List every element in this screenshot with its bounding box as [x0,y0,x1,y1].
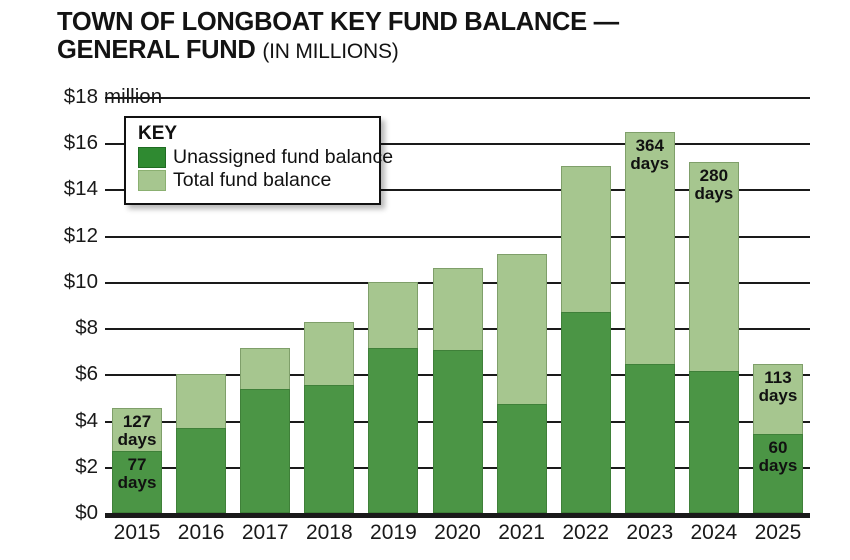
bar-segment-unassigned-2018[interactable] [304,385,354,513]
bar-2021[interactable] [497,254,547,513]
bar-segment-unassigned-2015[interactable] [112,451,162,513]
gridline [105,97,810,99]
bar-2023[interactable] [625,132,675,513]
y-axis-tick-label: $0 [36,501,98,525]
legend-swatch-unassigned-icon [138,147,166,168]
bar-segment-unassigned-2019[interactable] [368,348,418,513]
bar-segment-unassigned-2024[interactable] [689,371,739,513]
legend-item-unassigned: Unassigned fund balance [138,147,379,168]
y-axis-tick-label: $4 [36,409,98,433]
y-axis-tick-label: $8 [36,316,98,340]
gridline [105,513,810,518]
bar-2016[interactable] [176,374,226,513]
y-axis-tick-label: $2 [36,455,98,479]
bar-2024[interactable] [689,162,739,513]
bar-2017[interactable] [240,348,290,513]
bar-segment-unassigned-2016[interactable] [176,428,226,514]
bar-2019[interactable] [368,282,418,513]
legend-item-total: Total fund balance [138,170,379,191]
y-axis-tick-label: $10 [36,270,98,294]
y-axis-tick-label: $14 [36,177,98,201]
bar-segment-unassigned-2023[interactable] [625,364,675,513]
bar-segment-unassigned-2025[interactable] [753,434,803,513]
bar-2025[interactable] [753,364,803,513]
bar-segment-unassigned-2021[interactable] [497,404,547,513]
y-axis-tick-label: $6 [36,362,98,386]
bar-2018[interactable] [304,322,354,513]
chart-legend: KEY Unassigned fund balance Total fund b… [124,116,381,205]
bar-segment-unassigned-2022[interactable] [561,312,611,513]
bar-2015[interactable] [112,408,162,513]
legend-heading: KEY [138,123,379,145]
y-axis-tick-label: $16 [36,131,98,155]
bar-2020[interactable] [433,268,483,513]
bar-segment-unassigned-2020[interactable] [433,350,483,513]
bar-chart: $0$2$4$6$8$10$12$14$16$18million 127days… [0,0,850,560]
legend-label-total: Total fund balance [173,170,331,191]
legend-label-unassigned: Unassigned fund balance [173,147,393,168]
bar-segment-unassigned-2017[interactable] [240,389,290,513]
bar-2022[interactable] [561,166,611,513]
y-axis-tick-label: $12 [36,224,98,248]
legend-swatch-total-icon [138,170,166,191]
x-axis-tick-label: 2025 [738,521,818,545]
y-axis-tick-label: $18 [36,85,98,109]
